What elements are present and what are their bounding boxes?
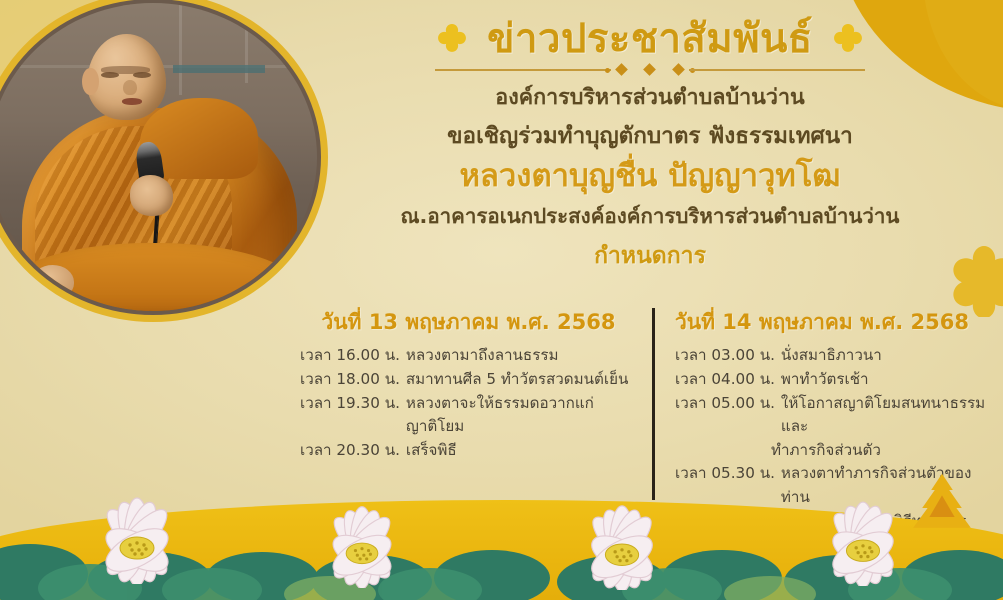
schedule-time: เวลา 04.00 น. [675, 368, 775, 391]
quatrefoil-ornament-icon [435, 22, 469, 56]
organization-name: องค์การบริหารส่วนตำบลบ้านว่าน [300, 85, 1000, 112]
schedule-description: เสร็จพิธี [406, 439, 457, 462]
schedule-time: เวลา 05.00 น. [675, 392, 775, 438]
lotus-flower-icon [62, 492, 212, 584]
page-title: ข่าวประชาสัมพันธ์ [487, 18, 813, 60]
schedule-description: นั่งสมาธิภาวนา [781, 344, 882, 367]
title-row: ข่าวประชาสัมพันธ์ [300, 18, 1000, 60]
schedule-time: เวลา 18.00 น. [300, 368, 400, 391]
portrait-image [0, 3, 317, 311]
day1-rows: เวลา 16.00 น.หลวงตามาถึงลานธรรมเวลา 18.0… [300, 344, 637, 462]
monk-name: หลวงตาบุญชื่น ปัญญาวุทโฒ [300, 158, 1000, 195]
poster-root: ข่าวประชาสัมพันธ์ องค์การบริหารส่วนตำบลบ… [0, 0, 1003, 600]
schedule-time: เวลา 03.00 น. [675, 344, 775, 367]
header-block: ข่าวประชาสัมพันธ์ องค์การบริหารส่วนตำบลบ… [300, 18, 1000, 274]
schedule-description: พาทำวัตรเช้า [781, 368, 869, 391]
schedule-time: เวลา 19.30 น. [300, 392, 400, 438]
schedule-row: เวลา 19.30 น.หลวงตาจะให้ธรรมดอวากแก่ญาติ… [300, 392, 637, 438]
schedule-row: เวลา 05.00 น.ให้โอกาสญาติโยมสนทนาธรรมและ [675, 392, 1000, 438]
lotus-flower-icon [790, 496, 936, 586]
monk-portrait-photo [0, 0, 328, 322]
day1-heading: วันที่ 13 พฤษภาคม พ.ศ. 2568 [300, 306, 637, 339]
schedule-description: หลวงตาจะให้ธรรมดอวากแก่ญาติโยม [406, 392, 637, 438]
schedule-description-continued: ทำภารกิจส่วนตัว [675, 439, 1000, 462]
schedule-row: เวลา 03.00 น.นั่งสมาธิภาวนา [675, 344, 1000, 367]
agenda-label: กำหนดการ [300, 238, 1000, 274]
schedule-description: สมาทานศีล 5 ทำวัตรสวดมนต์เย็น [406, 368, 628, 391]
lotus-flower-icon [548, 500, 696, 590]
schedule-time: เวลา 16.00 น. [300, 344, 400, 367]
portrait-gold-ring [0, 0, 328, 322]
schedule-description: ให้โอกาสญาติโยมสนทนาธรรมและ [781, 392, 1000, 438]
schedule-row: เวลา 04.00 น.พาทำวัตรเช้า [675, 368, 1000, 391]
venue-line: ณ.อาคารอเนกประสงค์องค์การบริหารส่วนตำบลบ… [300, 204, 1000, 230]
title-underline-ornament [435, 64, 865, 76]
schedule-row: เวลา 18.00 น.สมาทานศีล 5 ทำวัตรสวดมนต์เย… [300, 368, 637, 391]
schedule-row: เวลา 20.30 น.เสร็จพิธี [300, 439, 637, 462]
quatrefoil-ornament-icon [831, 22, 865, 56]
schedule-row: เวลา 16.00 น.หลวงตามาถึงลานธรรม [300, 344, 637, 367]
lotus-flower-icon [292, 500, 432, 588]
day2-heading: วันที่ 14 พฤษภาคม พ.ศ. 2568 [675, 306, 1000, 339]
schedule-description: หลวงตามาถึงลานธรรม [406, 344, 559, 367]
invitation-line: ขอเชิญร่วมทำบุญตักบาตร ฟังธรรมเทศนา [300, 122, 1000, 150]
schedule-time: เวลา 20.30 น. [300, 439, 400, 462]
